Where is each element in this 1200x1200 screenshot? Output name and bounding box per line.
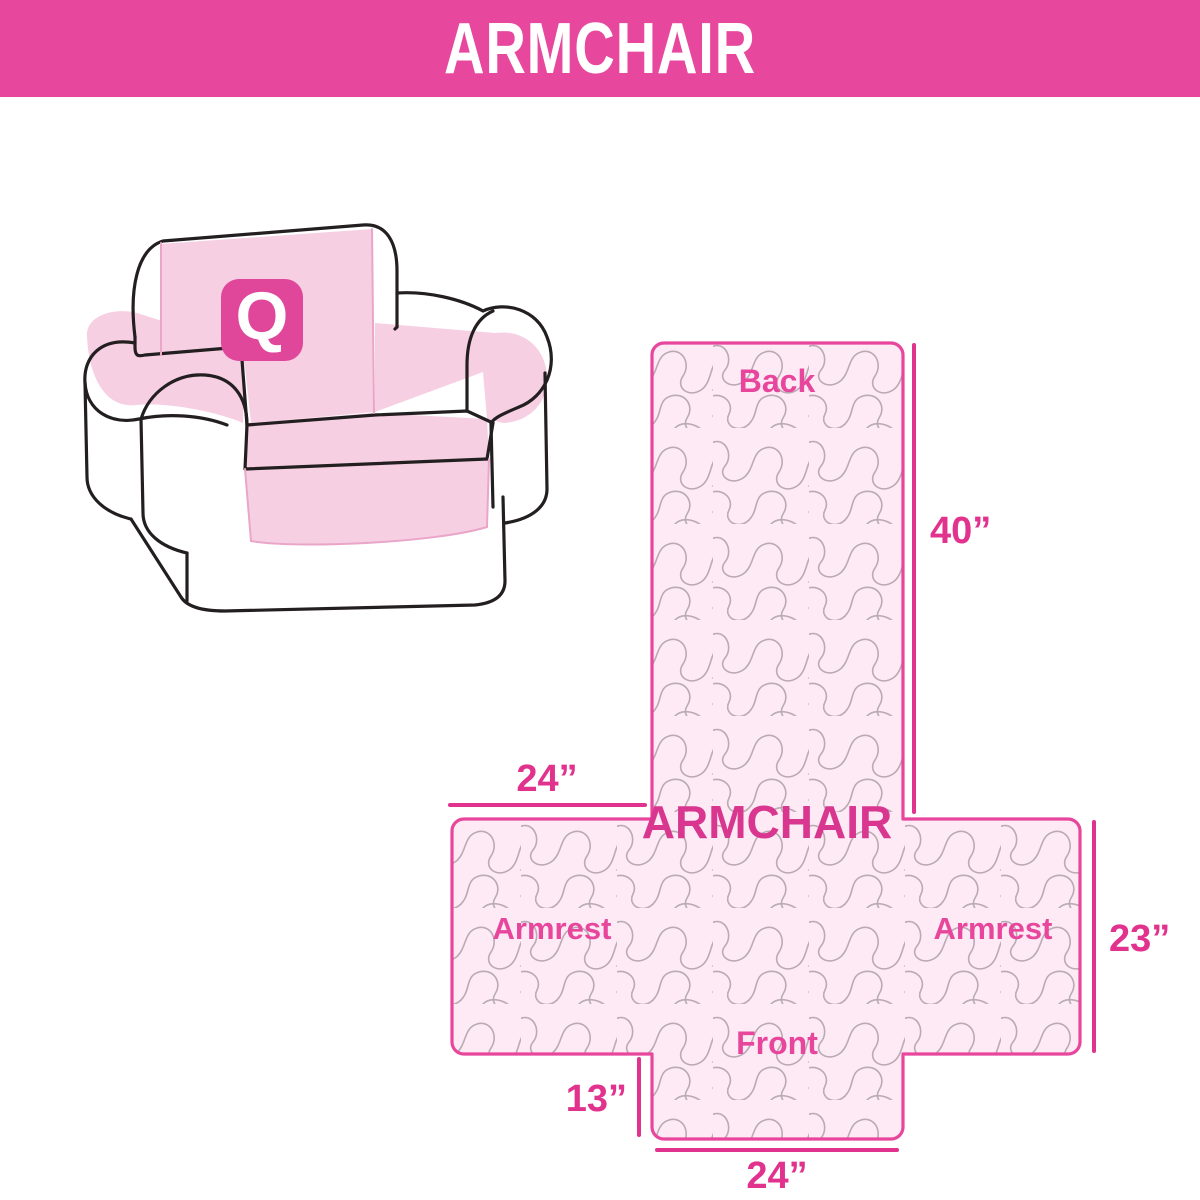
brand-logo: Q: [221, 278, 303, 361]
panel-label-back: Back: [739, 363, 816, 399]
panel-label-armrest-left: Armrest: [493, 911, 612, 946]
backrest-right-edge: [395, 327, 397, 329]
header-banner: ARMCHAIR: [0, 0, 1200, 97]
dimension-label-armrest-left-width: 24”: [516, 758, 577, 800]
logo-letter: Q: [236, 278, 289, 354]
product-dimension-infographic: ARMCHAIR: [0, 0, 1200, 1200]
cover-outline: [452, 343, 1080, 1139]
diagram-center-label: ARMCHAIR: [642, 796, 892, 848]
page-title: ARMCHAIR: [444, 13, 756, 85]
dimension-label-front-height: 13”: [566, 1078, 627, 1120]
panel-label-armrest-right: Armrest: [934, 911, 1053, 946]
cover-layout-diagram-svg: Back ARMCHAIR Armrest Armrest Front 40” …: [425, 332, 1200, 1162]
dimension-label-front-width: 24”: [746, 1155, 807, 1197]
cover-cross-shape: [452, 343, 1080, 1139]
dimension-label-back-height: 40”: [930, 510, 991, 552]
left-arm-front-face: [141, 419, 187, 553]
content-area: Q: [0, 97, 1200, 1200]
cover-layout-diagram: Back ARMCHAIR Armrest Armrest Front 40” …: [425, 332, 1200, 1162]
dimension-label-seat-height: 23”: [1109, 918, 1170, 960]
panel-label-front: Front: [736, 1025, 818, 1061]
